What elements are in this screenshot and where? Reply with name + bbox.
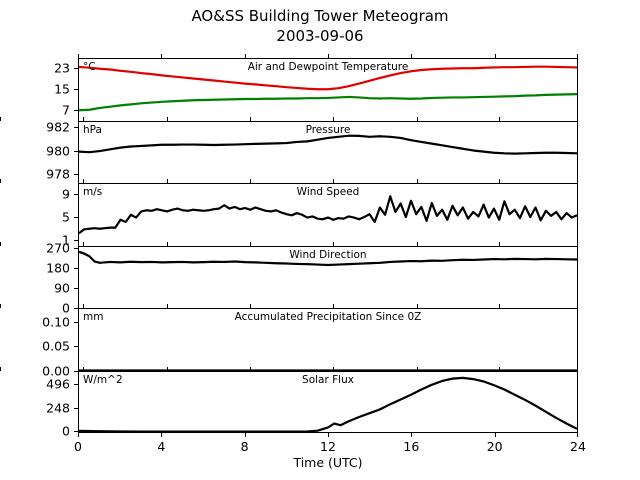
panel-boundary-tick: [167, 367, 168, 371]
panel-stack: °C Air and Dewpoint Temperature hPa Pres…: [78, 58, 578, 433]
panel-boundary-tick: [167, 304, 168, 308]
panel-precipitation: mm Accumulated Precipitation Since 0Z: [79, 309, 577, 372]
panel-wind-direction: Wind Direction: [79, 247, 577, 310]
panel-boundary-tick: [83, 242, 84, 246]
x-axis-title: Time (UTC): [78, 455, 578, 470]
panel-boundary-tick: [417, 117, 418, 121]
panel-boundary-tick: [333, 179, 334, 183]
panel-boundary-tick: [250, 117, 251, 121]
x-tick-mark: [577, 433, 578, 437]
x-tick-label: 20: [487, 439, 503, 454]
y-tick-label: 270: [46, 240, 70, 255]
x-tick-label: 0: [74, 439, 82, 454]
panel-boundary-tick: [0, 179, 1, 183]
panel-boundary-tick: [0, 367, 1, 371]
panel-boundary-tick: [417, 242, 418, 246]
panel-wind-speed: m/s Wind Speed: [79, 184, 577, 247]
panel-boundary-tick: [499, 367, 500, 371]
panel-title-solar-flux: Solar Flux: [79, 374, 577, 386]
y-tick-label: 0.05: [42, 339, 70, 354]
y-tick-label: 248: [46, 400, 70, 415]
panel-boundary-tick: [499, 179, 500, 183]
y-tick-label: 7: [62, 103, 70, 118]
y-tick-label: 978: [46, 166, 70, 181]
x-tick-label: 12: [320, 439, 336, 454]
series-line: [79, 94, 577, 110]
panel-solar-flux: W/m^2 Solar Flux: [79, 372, 577, 435]
panel-boundary-tick: [333, 117, 334, 121]
panel-boundary-tick: [333, 242, 334, 246]
y-axis-labels: 715239789809821590901802700.000.050.1002…: [0, 58, 78, 433]
panel-boundary-tick: [167, 179, 168, 183]
panel-boundary-tick: [167, 117, 168, 121]
panel-boundary-tick: [83, 179, 84, 183]
panel-boundary-tick: [0, 304, 1, 308]
y-tick-label: 0.10: [42, 315, 70, 330]
panel-boundary-tick: [250, 179, 251, 183]
figure-title: AO&SS Building Tower Meteogram 2003-09-0…: [0, 6, 640, 46]
panel-boundary-tick: [167, 242, 168, 246]
panel-boundary-tick: [499, 117, 500, 121]
panel-title-precipitation: Accumulated Precipitation Since 0Z: [79, 311, 577, 323]
panel-temperature: °C Air and Dewpoint Temperature: [79, 59, 577, 122]
panel-title-pressure: Pressure: [79, 124, 577, 136]
panel-boundary-tick: [499, 304, 500, 308]
panel-boundary-tick: [250, 242, 251, 246]
y-tick-label: 90: [54, 280, 70, 295]
y-tick-label: 9: [62, 187, 70, 202]
y-tick-label: 180: [46, 260, 70, 275]
panel-boundary-tick: [417, 367, 418, 371]
panel-boundary-tick: [333, 367, 334, 371]
panel-title-temperature: Air and Dewpoint Temperature: [79, 61, 577, 73]
meteogram-figure: AO&SS Building Tower Meteogram 2003-09-0…: [0, 0, 640, 480]
panel-boundary-tick: [499, 242, 500, 246]
x-tick-mark: [78, 433, 79, 437]
panel-boundary-tick: [250, 304, 251, 308]
panel-boundary-tick: [250, 367, 251, 371]
y-tick-label: 0: [62, 301, 70, 316]
x-tick-mark: [495, 433, 496, 437]
x-tick-label: 4: [157, 439, 165, 454]
panel-boundary-tick: [83, 117, 84, 121]
x-tick-mark: [328, 433, 329, 437]
y-tick-label: 980: [46, 143, 70, 158]
y-tick-label: 982: [46, 120, 70, 135]
x-tick-mark: [245, 433, 246, 437]
panel-boundary-tick: [83, 367, 84, 371]
figure-title-line2: 2003-09-06: [0, 26, 640, 46]
panel-boundary-tick: [417, 304, 418, 308]
panel-title-wind-direction: Wind Direction: [79, 249, 577, 261]
x-tick-mark: [411, 433, 412, 437]
panel-boundary-tick: [0, 242, 1, 246]
y-tick-label: 496: [46, 377, 70, 392]
panel-boundary-tick: [333, 304, 334, 308]
y-tick-label: 5: [62, 210, 70, 225]
series-line: [79, 196, 577, 233]
panel-pressure: hPa Pressure: [79, 122, 577, 185]
series-line: [79, 135, 577, 153]
panel-boundary-tick: [0, 117, 1, 121]
y-tick-label: 15: [54, 82, 70, 97]
panel-boundary-tick: [83, 304, 84, 308]
y-tick-label: 23: [54, 61, 70, 76]
panel-title-wind-speed: Wind Speed: [79, 186, 577, 198]
x-tick-mark: [161, 433, 162, 437]
panel-boundary-tick: [417, 179, 418, 183]
x-tick-label: 16: [403, 439, 419, 454]
figure-title-line1: AO&SS Building Tower Meteogram: [191, 7, 448, 25]
x-tick-label: 24: [570, 439, 586, 454]
y-tick-label: 0: [62, 424, 70, 439]
x-tick-label: 8: [241, 439, 249, 454]
